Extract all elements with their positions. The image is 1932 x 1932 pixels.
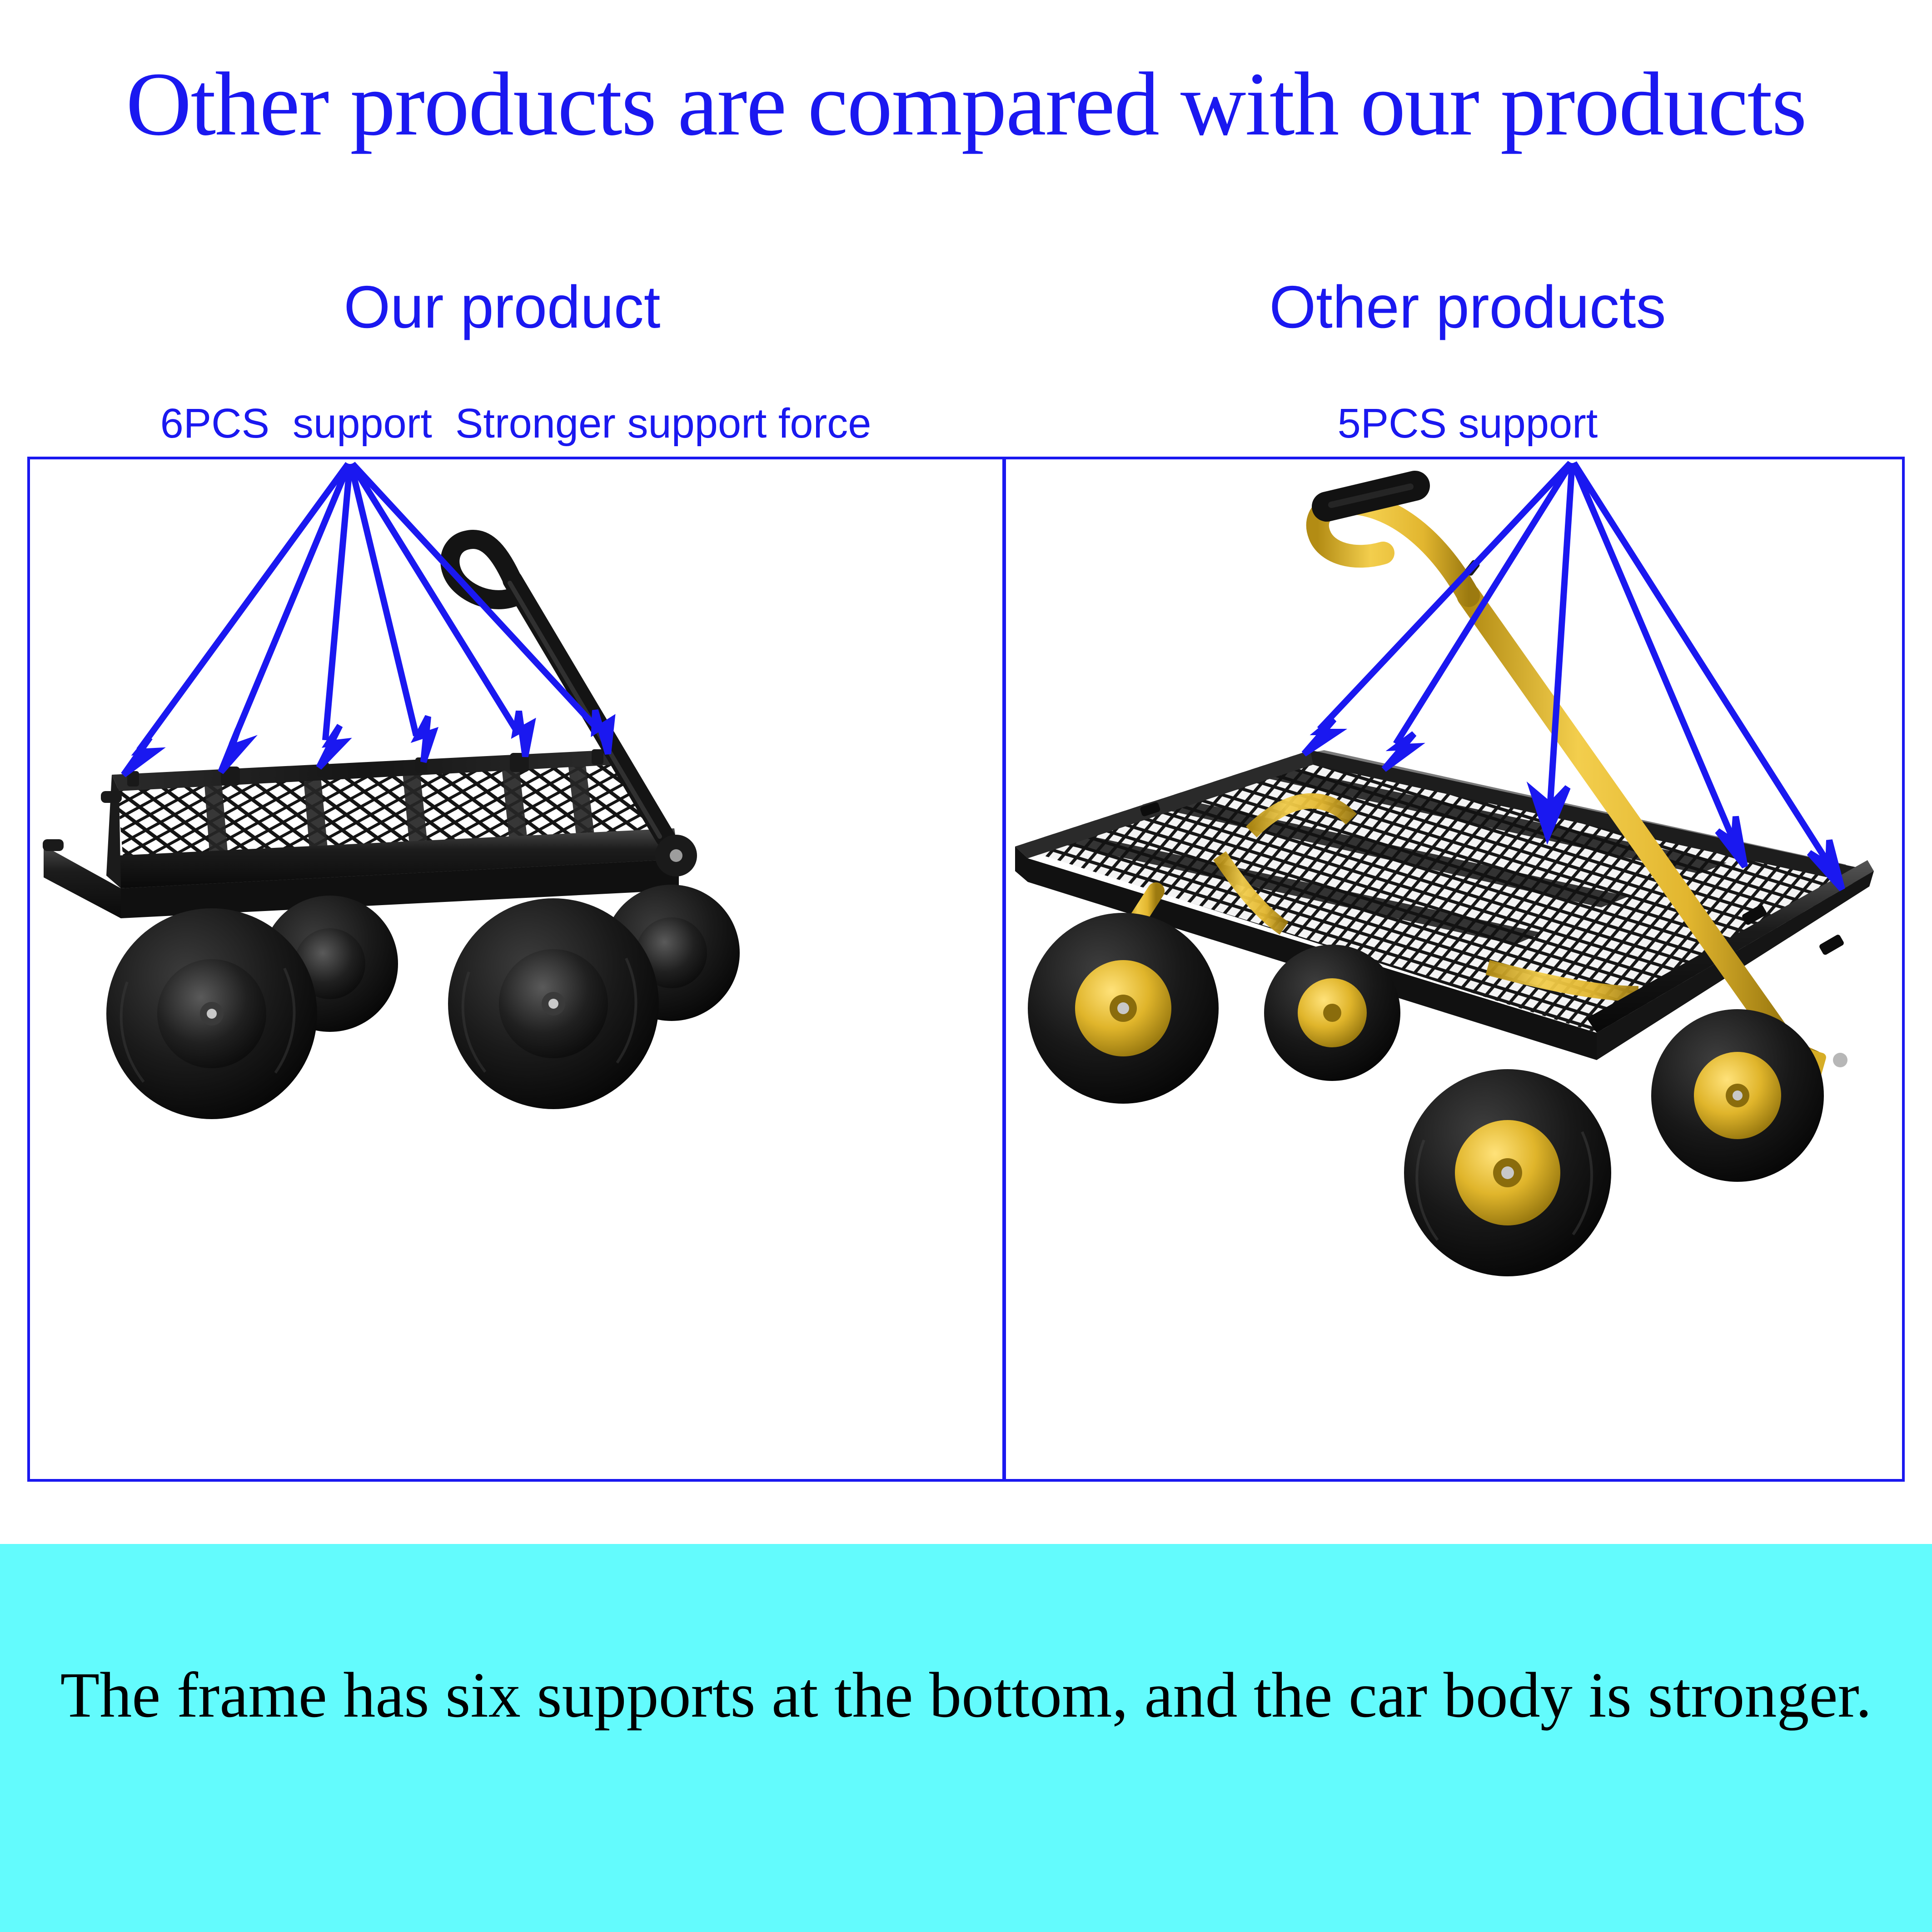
- other-products-heading: Other products: [1003, 273, 1932, 341]
- our-product-heading: Our product: [0, 273, 1004, 341]
- our-product-panel: [27, 457, 1005, 1482]
- footer-banner: The frame has six supports at the bottom…: [0, 1544, 1932, 1932]
- infographic-page: Other products are compared with our pro…: [0, 0, 1932, 1932]
- our-product-stage: [30, 459, 1002, 1479]
- other-support-label: 5PCS support: [1003, 400, 1932, 448]
- our-support-label: 6PCS support Stronger support force: [0, 400, 1031, 448]
- other-products-stage: [1006, 459, 1902, 1479]
- other-products-illustration: [1006, 459, 1902, 1479]
- our-product-illustration: [30, 459, 1002, 1479]
- other-products-panel: [1003, 457, 1905, 1482]
- footer-caption: The frame has six supports at the bottom…: [0, 1658, 1932, 1732]
- page-title: Other products are compared with our pro…: [0, 52, 1932, 156]
